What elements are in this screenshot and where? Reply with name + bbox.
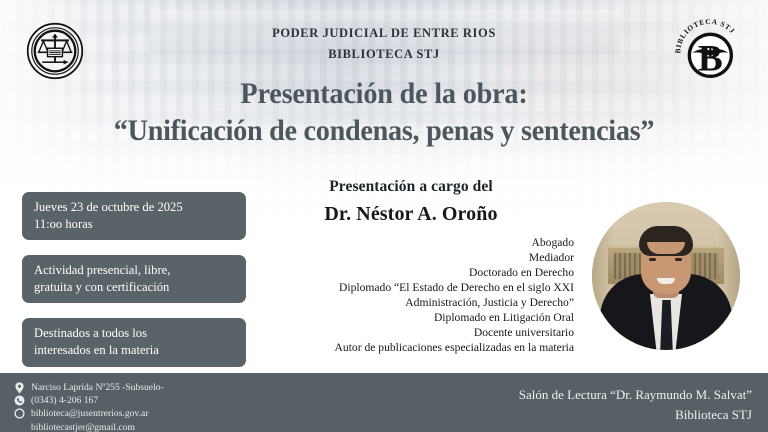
contact-address: Narciso Laprida Nº255 -Subsuelo- [31,381,164,394]
portrait-hair [639,226,693,256]
contact-email-row: biblioteca@jusentrerios.gov.ar [14,407,164,420]
credential-item: Administración, Justicia y Derecho” [246,295,574,310]
info-pill-audience: Destinados a todos los interesados en la… [22,318,246,366]
page-title-line-1: Presentación de la obra: [23,78,745,110]
poster-header: PODER JUDICIAL DE ENTRE RIOS BIBLIOTECA … [0,0,768,147]
credential-item: Diplomado “El Estado de Derecho en el si… [246,280,574,295]
poster-canvas: BIBLIOTECA STJ B PODER JUDICIAL DE ENTRE… [0,0,768,432]
venue-info: Salón de Lectura “Dr. Raymundo M. Salvat… [519,385,752,424]
page-title-line-2: “Unificación de condenas, penas y senten… [23,115,745,147]
info-pill-date: Jueves 23 de octubre de 2025 11:oo horas [22,192,246,240]
speaker-name: Dr. Néstor A. Oroño [246,203,576,226]
poster-footer: Narciso Laprida Nº255 -Subsuelo- (0343) … [0,373,768,432]
poder-judicial-seal-icon [26,22,84,80]
credential-item: Autor de publicaciones especializadas en… [246,340,574,355]
info-pill-modality-line-2: gratuita y con certificación [34,279,236,296]
credential-item: Mediador [246,250,574,265]
speaker-credentials-list: Abogado Mediador Doctorado en Derecho Di… [246,235,576,356]
contact-phone-row: (0343) 4-206 167 [14,394,164,407]
contact-address-row: Narciso Laprida Nº255 -Subsuelo- [14,381,164,394]
portrait-eye-left [649,258,656,261]
event-info-list: Jueves 23 de octubre de 2025 11:oo horas… [22,192,246,382]
venue-room: Salón de Lectura “Dr. Raymundo M. Salvat… [519,385,752,405]
credential-item: Doctorado en Derecho [246,265,574,280]
portrait-eye-right [675,258,682,261]
info-pill-modality-line-1: Actividad presencial, libre, [34,262,236,279]
credential-item: Docente universitario [246,325,574,340]
contact-phone: (0343) 4-206 167 [31,394,98,407]
credential-item: Diplomado en Litigación Oral [246,310,574,325]
speaker-lead-label: Presentación a cargo del [246,178,576,196]
info-pill-audience-line-2: interesados en la materia [34,342,236,359]
speaker-section: Presentación a cargo del Dr. Néstor A. O… [246,178,576,356]
credential-item: Abogado [246,235,574,250]
contact-email-primary: biblioteca@jusentrerios.gov.ar [31,407,148,420]
venue-library: Biblioteca STJ [519,405,752,425]
contact-info: Narciso Laprida Nº255 -Subsuelo- (0343) … [14,381,164,432]
info-pill-audience-line-1: Destinados a todos los [34,325,236,342]
speaker-portrait-photo [592,202,740,350]
location-pin-icon [14,382,25,394]
organization-line-2: BIBLIOTECA STJ [0,47,768,62]
email-icon [14,408,25,420]
info-pill-date-line-1: Jueves 23 de octubre de 2025 [34,199,236,216]
svg-text:B: B [698,39,723,80]
phone-icon [14,395,25,407]
contact-email-secondary: bibliotecastjer@gmail.com [31,421,164,432]
biblioteca-stj-logo-icon: BIBLIOTECA STJ B [672,14,746,84]
info-pill-modality: Actividad presencial, libre, gratuita y … [22,255,246,303]
organization-line-1: PODER JUDICIAL DE ENTRE RIOS [0,26,768,41]
info-pill-date-line-2: 11:oo horas [34,216,236,233]
